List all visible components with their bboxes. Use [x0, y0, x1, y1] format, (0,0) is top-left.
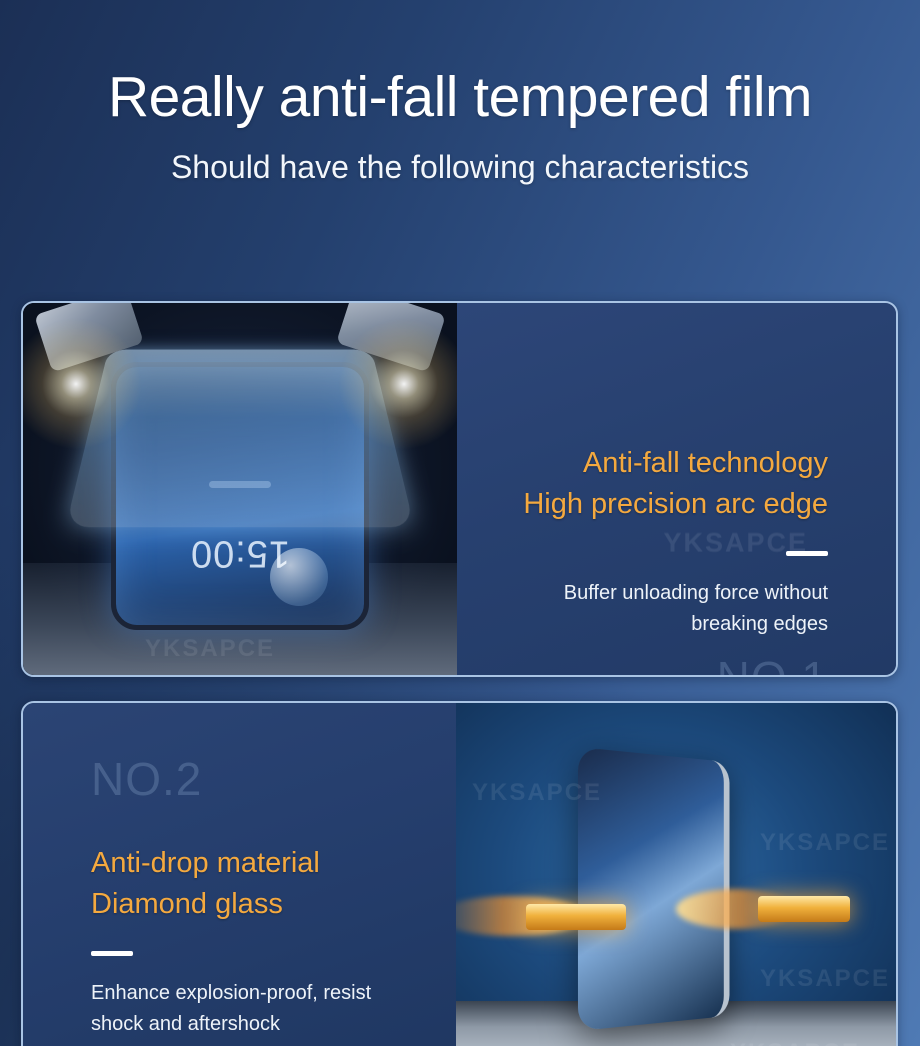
- feature-image-1: 15:00 YKSAPCE: [23, 303, 457, 675]
- feature-card-2: YKSAPCE YKSAPCE YKSAPCE YKSAPCE NO.2 Ant…: [21, 701, 898, 1046]
- feature-copy-1: Anti-fall technology High precision arc …: [448, 443, 828, 640]
- page-subtitle: Should have the following characteristic…: [0, 150, 920, 185]
- card-number-label-1: NO.1: [717, 651, 828, 677]
- feature-description-line2: breaking edges: [448, 609, 828, 640]
- divider-rule: [91, 951, 133, 956]
- feature-text-panel-2: NO.2 Anti-drop material Diamond glass En…: [23, 703, 456, 1046]
- feature-description-line1: Enhance explosion-proof, resist: [91, 978, 471, 1009]
- feature-headline-line1: Anti-fall technology: [448, 443, 828, 484]
- photo-phone-bullets: YKSAPCE YKSAPCE YKSAPCE YKSAPCE: [456, 703, 896, 1046]
- feature-description-line1: Buffer unloading force without: [448, 578, 828, 609]
- watermark-text: YKSAPCE: [760, 829, 890, 857]
- feature-headline-line2: High precision arc edge: [448, 484, 828, 525]
- promo-page: Really anti-fall tempered film Should ha…: [0, 0, 920, 1046]
- divider-rule: [786, 551, 828, 556]
- photo2-bullet-left: [526, 904, 626, 930]
- feature-image-2: YKSAPCE YKSAPCE YKSAPCE YKSAPCE: [456, 703, 896, 1046]
- watermark-text: YKSAPCE: [760, 965, 890, 993]
- feature-text-panel-1: NO.1 YKSAPCE Anti-fall technology High p…: [457, 303, 896, 675]
- feature-copy-2: Anti-drop material Diamond glass Enhance…: [91, 843, 471, 1040]
- photo-phone-welding-sparks: 15:00 YKSAPCE: [23, 303, 457, 675]
- photo2-phone-body: [578, 747, 729, 1031]
- card-number-label-2: NO.2: [91, 752, 202, 806]
- page-title: Really anti-fall tempered film: [0, 68, 920, 128]
- feature-headline-line1: Anti-drop material: [91, 843, 471, 884]
- feature-description-line2: shock and aftershock: [91, 1009, 471, 1040]
- page-header: Really anti-fall tempered film Should ha…: [0, 0, 920, 185]
- photo1-water-bubble: [270, 548, 328, 606]
- photo2-bullet-right: [758, 896, 850, 922]
- feature-headline-line2: Diamond glass: [91, 884, 471, 925]
- feature-card-1: 15:00 YKSAPCE NO.1 YKSAPCE Anti-fall tec…: [21, 301, 898, 677]
